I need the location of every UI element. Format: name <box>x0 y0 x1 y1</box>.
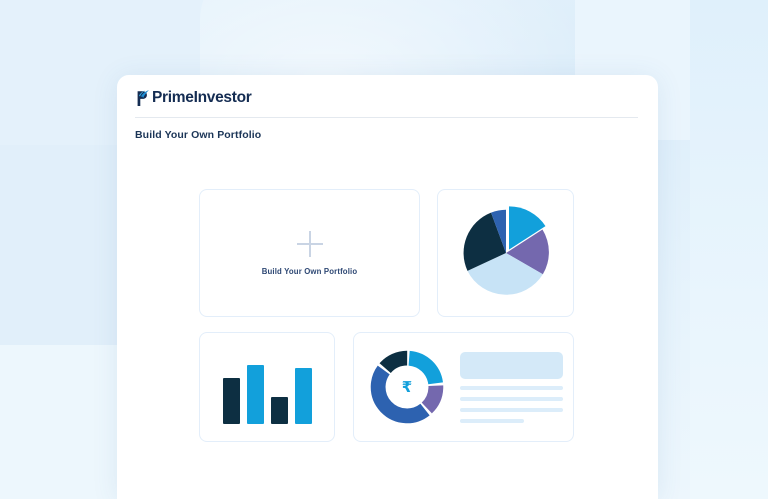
performance-bar-card[interactable] <box>199 332 335 442</box>
bar-1 <box>223 378 240 424</box>
performance-bar-chart <box>223 350 312 424</box>
bar-2 <box>247 365 264 424</box>
brand-name: PrimeInvestor <box>152 89 251 107</box>
build-your-own-portfolio-card[interactable]: Build Your Own Portfolio <box>199 189 420 317</box>
brand-logo[interactable]: PrimeInvestor <box>135 89 251 107</box>
allocation-pie-card[interactable] <box>437 189 574 317</box>
bar-4 <box>295 368 312 424</box>
placeholder-line-1 <box>460 386 563 390</box>
placeholder-line-4 <box>460 419 524 423</box>
plus-icon <box>297 231 323 257</box>
rupee-icon: ₹ <box>368 348 446 426</box>
page-title: Build Your Own Portfolio <box>135 129 261 141</box>
decorative-shape-right-band <box>690 0 768 499</box>
holdings-donut-card[interactable]: ₹ <box>353 332 574 442</box>
placeholder-line-2 <box>460 397 563 401</box>
allocation-pie-chart <box>459 206 553 300</box>
bar-3 <box>271 397 288 424</box>
prime-investor-logomark <box>135 89 151 107</box>
holdings-donut-chart: ₹ <box>368 348 446 426</box>
placeholder-line-3 <box>460 408 563 412</box>
build-your-own-portfolio-label: Build Your Own Portfolio <box>262 267 358 276</box>
content-block-placeholder <box>460 352 563 379</box>
app-panel: PrimeInvestor Build Your Own Portfolio B… <box>117 75 658 499</box>
content-placeholders <box>460 352 563 423</box>
header-divider <box>135 117 638 118</box>
app-background: PrimeInvestor Build Your Own Portfolio B… <box>0 0 768 499</box>
